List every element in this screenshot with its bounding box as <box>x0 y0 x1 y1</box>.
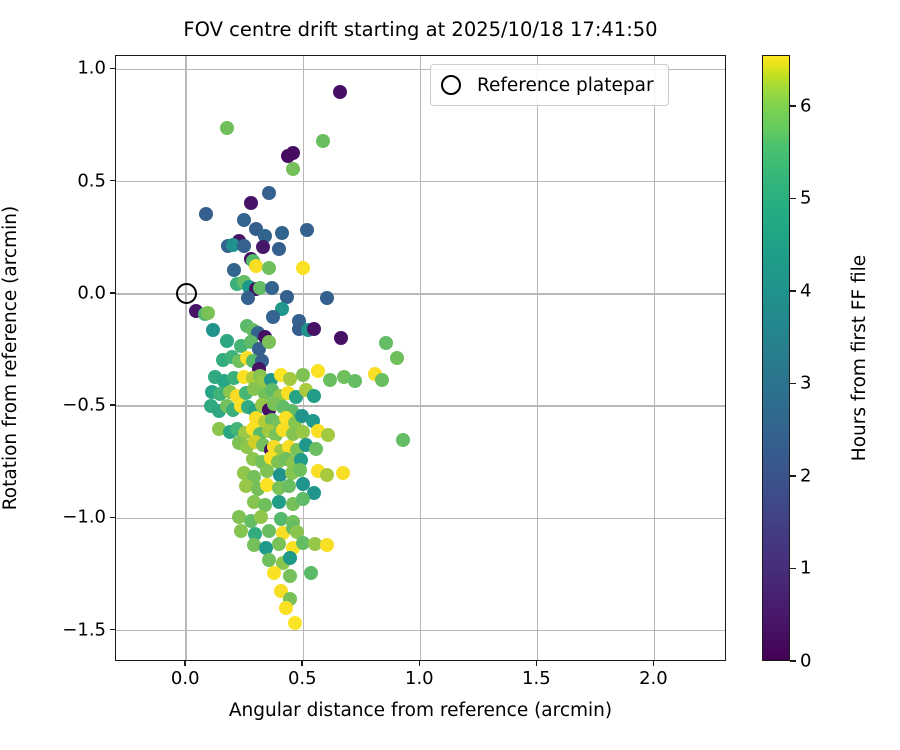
scatter-point <box>267 566 281 580</box>
y-tick-mark <box>110 404 115 406</box>
x-tick-mark <box>536 661 538 666</box>
colorbar-tick-label: 0 <box>800 651 811 672</box>
scatter-point <box>307 322 321 336</box>
scatter-point <box>262 524 276 538</box>
scatter-point <box>272 242 286 256</box>
scatter-point <box>333 85 347 99</box>
scatter-point <box>283 569 297 583</box>
scatter-point <box>296 492 310 506</box>
scatter-point <box>282 479 296 493</box>
scatter-point <box>241 291 255 305</box>
y-axis-label: Rotation from reference (arcmin) <box>0 206 21 510</box>
y-tick-mark <box>110 629 115 631</box>
scatter-point <box>272 495 286 509</box>
scatter-point <box>262 553 276 567</box>
scatter-point <box>260 464 274 478</box>
x-tick-label: 1.0 <box>405 668 434 689</box>
scatter-point <box>201 306 215 320</box>
colorbar-tick-label: 6 <box>800 95 811 116</box>
scatter-point <box>396 433 410 447</box>
colorbar-tick-label: 3 <box>800 373 811 394</box>
scatter-point <box>296 368 310 382</box>
colorbar-tick-mark <box>790 290 796 292</box>
scatter-point <box>320 538 334 552</box>
y-tick-mark <box>110 68 115 70</box>
legend-open-circle-icon <box>441 75 461 95</box>
scatter-point <box>283 551 297 565</box>
scatter-point <box>309 442 323 456</box>
scatter-point <box>237 213 251 227</box>
scatter-point <box>279 601 293 615</box>
colorbar-tick-mark <box>790 660 796 662</box>
scatter-point <box>304 566 318 580</box>
x-tick-mark <box>419 661 421 666</box>
gridline-vertical <box>185 56 187 660</box>
y-tick-label: −0.5 <box>62 395 106 416</box>
scatter-point <box>300 223 314 237</box>
scatter-point <box>323 373 337 387</box>
scatter-point <box>220 121 234 135</box>
gridline-vertical <box>420 56 422 660</box>
scatter-point <box>336 466 350 480</box>
scatter-point <box>206 323 220 337</box>
legend-entry-label: Reference platepar <box>477 75 654 96</box>
scatter-point <box>275 226 289 240</box>
y-tick-label: 1.0 <box>77 58 106 79</box>
colorbar-tick-label: 5 <box>800 188 811 209</box>
x-tick-label: 1.5 <box>522 668 551 689</box>
scatter-point <box>199 207 213 221</box>
scatter-point <box>262 335 276 349</box>
scatter-point <box>375 373 389 387</box>
scatter-point <box>379 336 393 350</box>
x-tick-label: 2.0 <box>639 668 668 689</box>
reference-platepar-marker <box>176 283 197 304</box>
y-tick-mark <box>110 180 115 182</box>
scatter-point <box>272 537 286 551</box>
scatter-point <box>234 524 248 538</box>
colorbar-tick-label: 4 <box>800 280 811 301</box>
y-tick-label: 0.5 <box>77 170 106 191</box>
scatter-point <box>256 240 270 254</box>
scatter-point <box>262 261 276 275</box>
scatter-point <box>348 374 362 388</box>
scatter-point <box>286 162 300 176</box>
figure-canvas: FOV centre drift starting at 2025/10/18 … <box>0 0 900 750</box>
y-tick-mark <box>110 517 115 519</box>
colorbar-tick-mark <box>790 475 796 477</box>
x-tick-mark <box>301 661 303 666</box>
scatter-point <box>244 196 258 210</box>
scatter-point <box>296 261 310 275</box>
page-title: FOV centre drift starting at 2025/10/18 … <box>115 18 726 41</box>
x-tick-label: 0.0 <box>171 668 200 689</box>
x-axis-label: Angular distance from reference (arcmin) <box>115 700 726 721</box>
y-tick-mark <box>110 292 115 294</box>
gridline-horizontal <box>116 630 725 632</box>
colorbar-tick-label: 2 <box>800 465 811 486</box>
colorbar-gradient <box>762 55 790 661</box>
scatter-point <box>220 334 234 348</box>
scatter-point <box>265 281 279 295</box>
scatter-point <box>237 239 251 253</box>
scatter-point <box>390 351 404 365</box>
y-tick-label: −1.5 <box>62 619 106 640</box>
colorbar-tick-mark <box>790 198 796 200</box>
scatter-point <box>293 463 307 477</box>
y-tick-label: 0.0 <box>77 282 106 303</box>
y-tick-label: −1.0 <box>62 507 106 528</box>
gridline-horizontal <box>116 181 725 183</box>
gridline-horizontal <box>116 293 725 295</box>
legend-box[interactable]: Reference platepar <box>430 64 669 106</box>
scatter-point <box>266 310 280 324</box>
scatter-point <box>316 134 330 148</box>
x-tick-mark <box>653 661 655 666</box>
colorbar-tick-mark <box>790 383 796 385</box>
scatter-point <box>262 186 276 200</box>
x-tick-mark <box>184 661 186 666</box>
scatter-plot-axes[interactable] <box>115 55 726 661</box>
scatter-point <box>296 425 310 439</box>
scatter-point <box>288 616 302 630</box>
colorbar-tick-mark <box>790 568 796 570</box>
colorbar-tick-mark <box>790 105 796 107</box>
scatter-point <box>334 331 348 345</box>
gridline-horizontal <box>116 518 725 520</box>
scatter-point <box>281 149 295 163</box>
x-tick-label: 0.5 <box>288 668 317 689</box>
gridline-vertical <box>537 56 539 660</box>
scatter-point <box>307 389 321 403</box>
scatter-point <box>320 468 334 482</box>
scatter-point <box>254 510 268 524</box>
colorbar-label: Hours from first FF file <box>849 255 870 461</box>
gridline-vertical <box>654 56 656 660</box>
scatter-point <box>321 428 335 442</box>
colorbar-tick-label: 1 <box>800 558 811 579</box>
scatter-point <box>320 291 334 305</box>
